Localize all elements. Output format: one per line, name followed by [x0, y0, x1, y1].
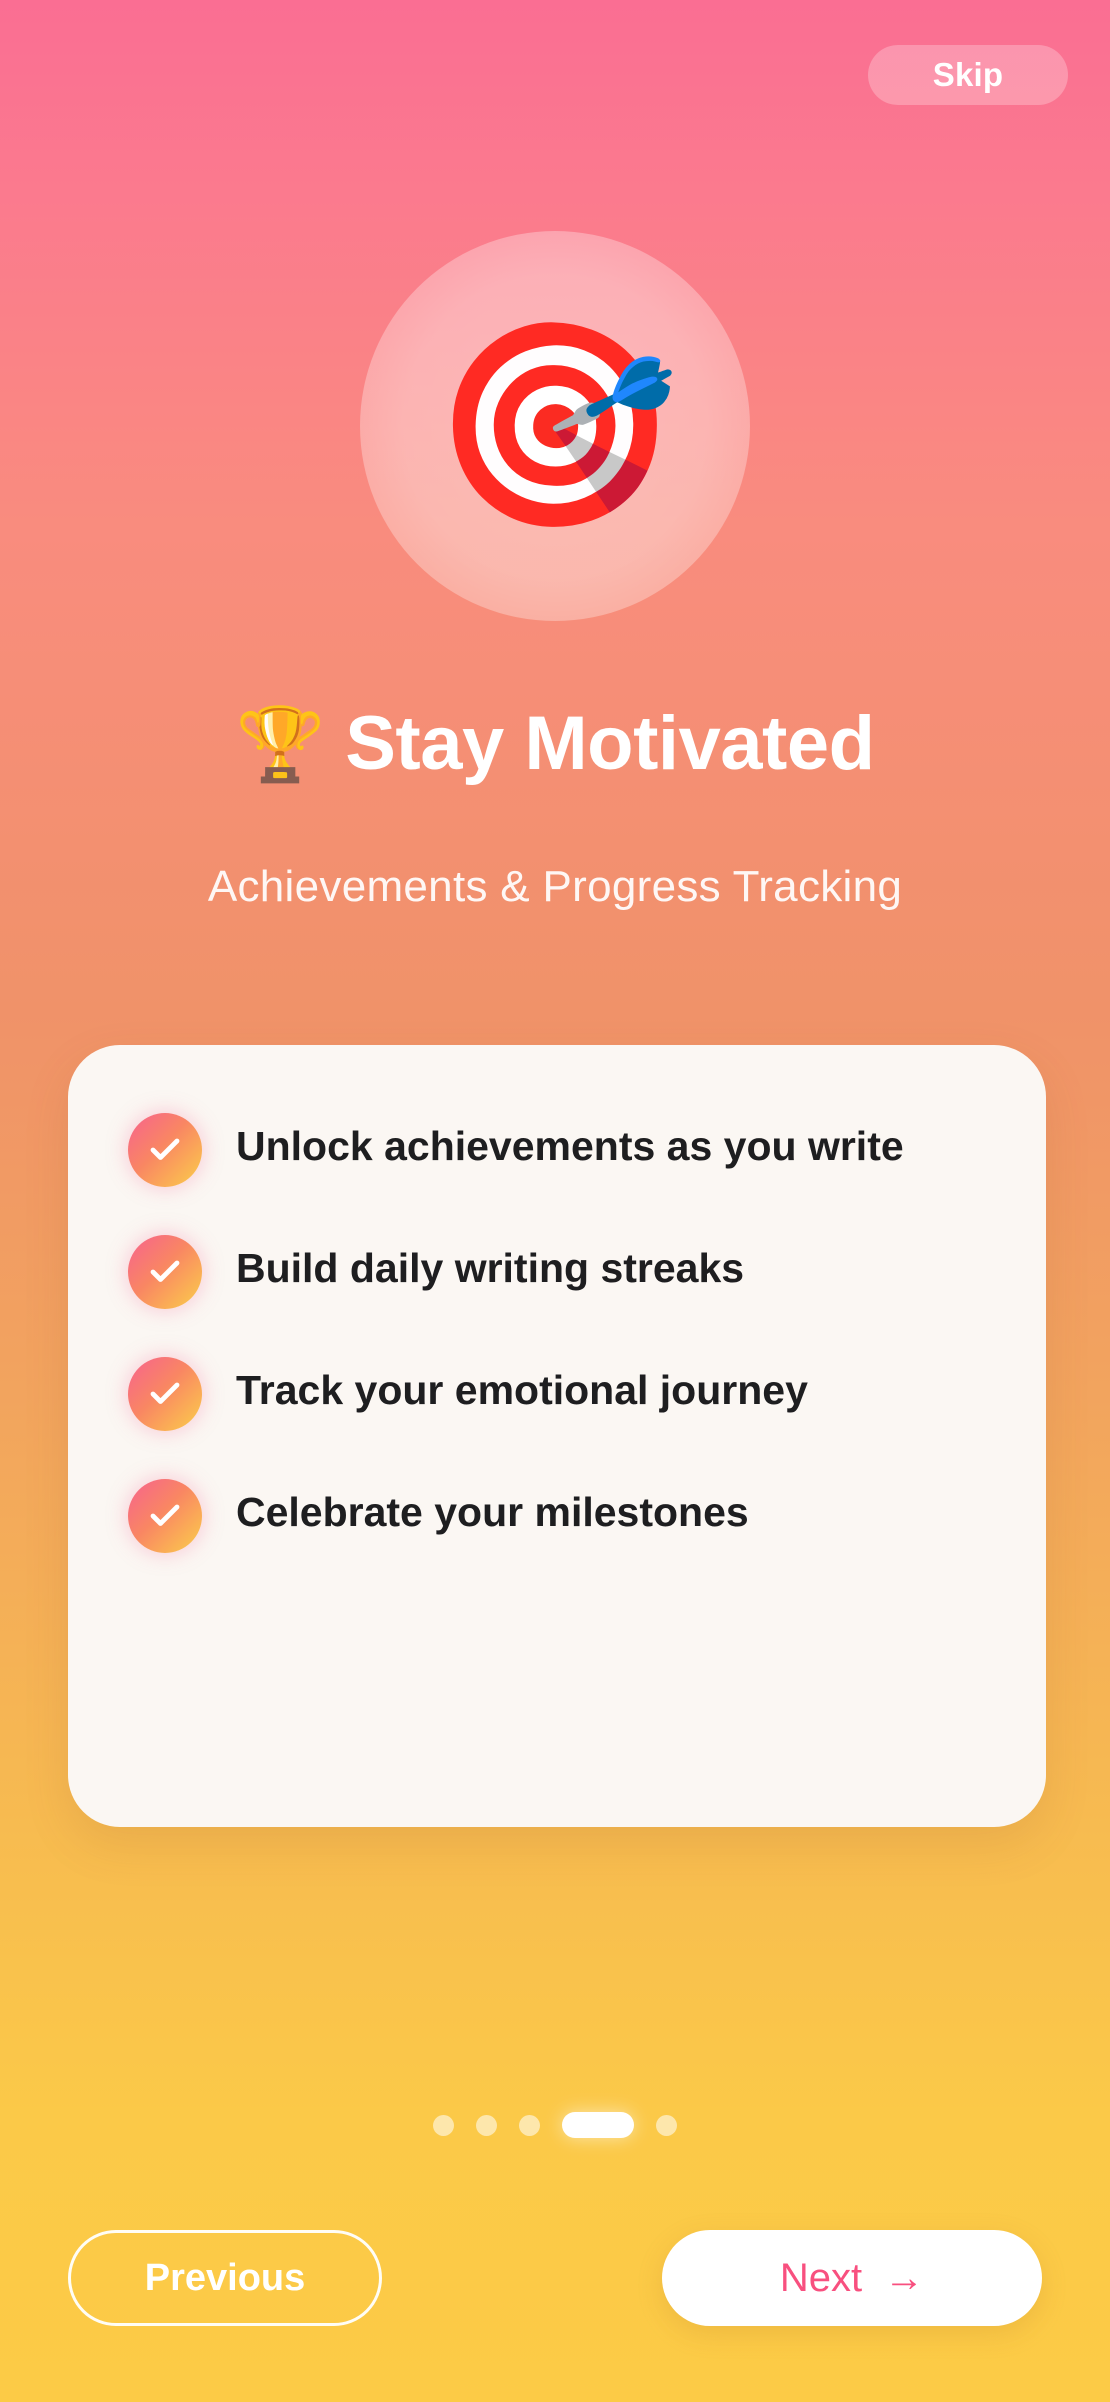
pagination-dot-1[interactable] [433, 2115, 454, 2136]
check-icon [128, 1479, 202, 1553]
previous-button-label: Previous [145, 2257, 306, 2300]
list-item: Celebrate your milestones [128, 1479, 986, 1553]
skip-button-label: Skip [933, 56, 1004, 94]
list-item: Unlock achievements as you write [128, 1113, 986, 1187]
check-icon [128, 1235, 202, 1309]
list-item-label: Track your emotional journey [236, 1357, 808, 1415]
pagination-dot-2[interactable] [476, 2115, 497, 2136]
skip-button[interactable]: Skip [868, 45, 1068, 105]
list-item: Track your emotional journey [128, 1357, 986, 1431]
previous-button[interactable]: Previous [68, 2230, 382, 2326]
list-item-label: Build daily writing streaks [236, 1235, 744, 1293]
bottom-navigation: Previous Next → [0, 2226, 1110, 2330]
list-item-label: Unlock achievements as you write [236, 1113, 904, 1171]
onboarding-screen: Skip 🎯 🏆 Stay Motivated Achievements & P… [0, 0, 1110, 2402]
trophy-icon: 🏆 [235, 705, 324, 785]
check-icon [128, 1357, 202, 1431]
feature-list-card: Unlock achievements as you write Build d… [68, 1045, 1046, 1827]
pagination-dot-3[interactable] [519, 2115, 540, 2136]
list-item: Build daily writing streaks [128, 1235, 986, 1309]
arrow-right-icon: → [884, 2258, 924, 2298]
page-title-text: Stay Motivated [345, 701, 874, 786]
next-button-label: Next [780, 2256, 862, 2301]
list-item-label: Celebrate your milestones [236, 1479, 749, 1537]
hero-illustration: 🎯 [0, 228, 1110, 623]
page-title: 🏆 Stay Motivated [0, 700, 1110, 787]
next-button[interactable]: Next → [662, 2230, 1042, 2326]
check-icon [128, 1113, 202, 1187]
pagination-dots [0, 2112, 1110, 2138]
hero-circle-backdrop: 🎯 [360, 231, 750, 621]
target-dart-icon: 🎯 [430, 326, 679, 526]
pagination-dot-4-active[interactable] [562, 2112, 634, 2138]
pagination-dot-5[interactable] [656, 2115, 677, 2136]
page-subtitle: Achievements & Progress Tracking [0, 862, 1110, 912]
